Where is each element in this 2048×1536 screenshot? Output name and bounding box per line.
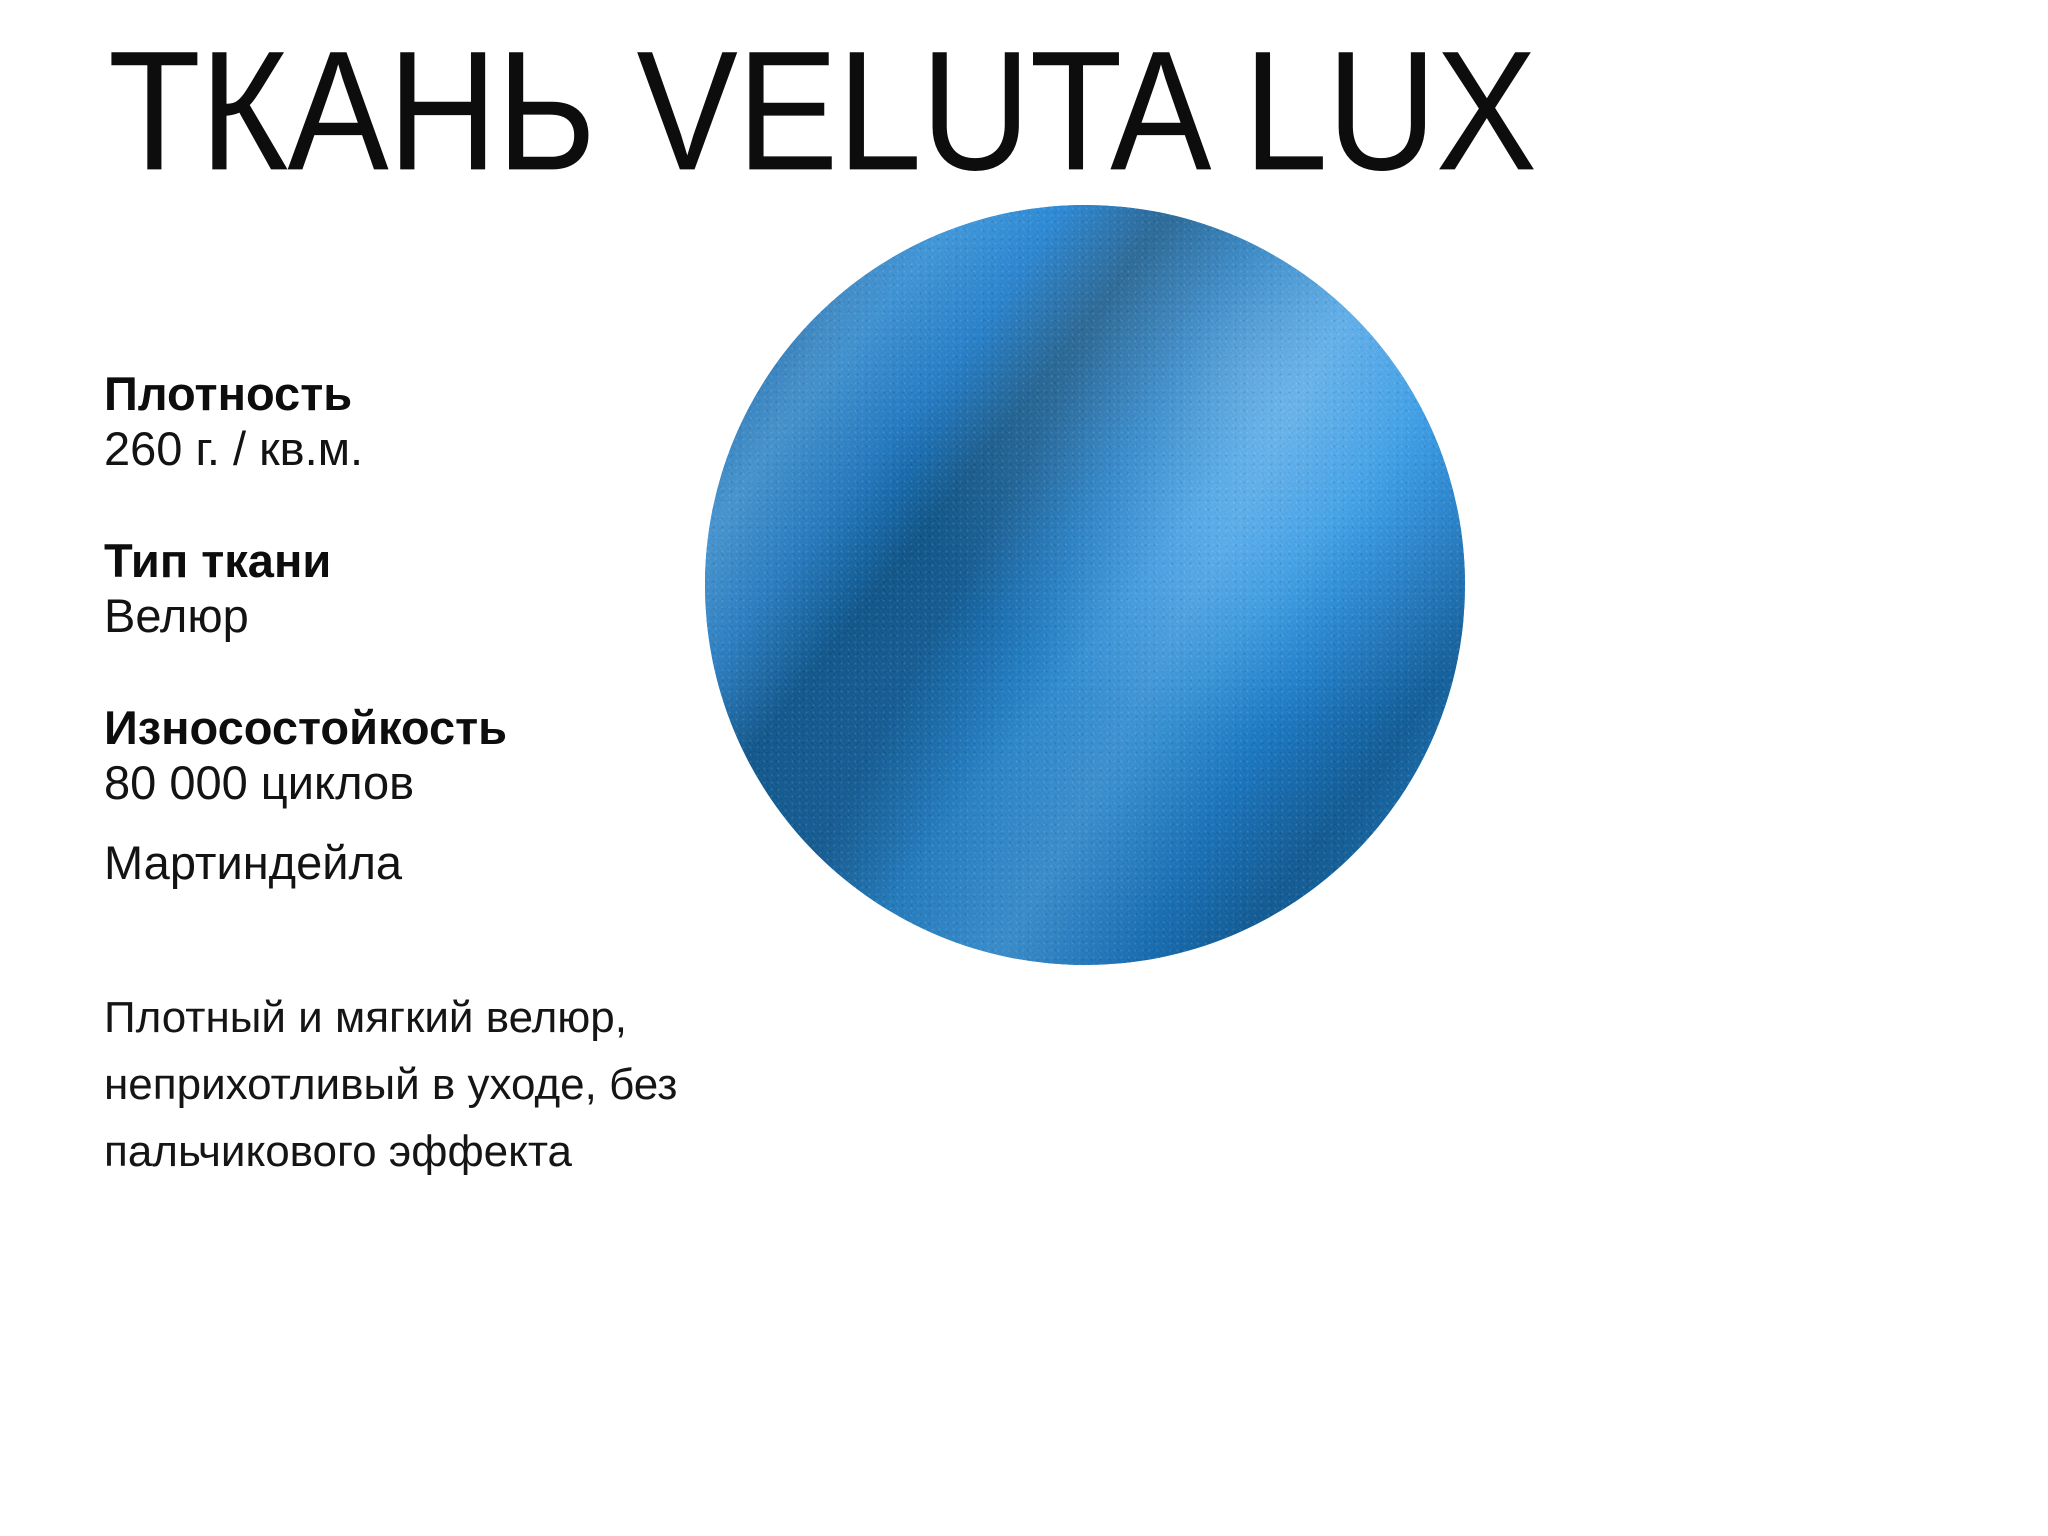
page-title: ТКАНЬ VELUTA LUX xyxy=(108,26,1988,196)
description-line-2: неприхотливый в уходе, без xyxy=(104,1052,904,1119)
description-line-1: Плотный и мягкий велюр, xyxy=(104,985,904,1052)
swatch-speckle-layer xyxy=(705,205,1465,965)
fabric-spec-slide: ТКАНЬ VELUTA LUX Плотность 260 г. / кв.м… xyxy=(0,0,2048,1536)
fabric-swatch-image xyxy=(705,205,1465,965)
description-paragraph: Плотный и мягкий велюр, неприхотливый в … xyxy=(104,985,904,1186)
description-line-3: пальчикового эффекта xyxy=(104,1119,904,1186)
